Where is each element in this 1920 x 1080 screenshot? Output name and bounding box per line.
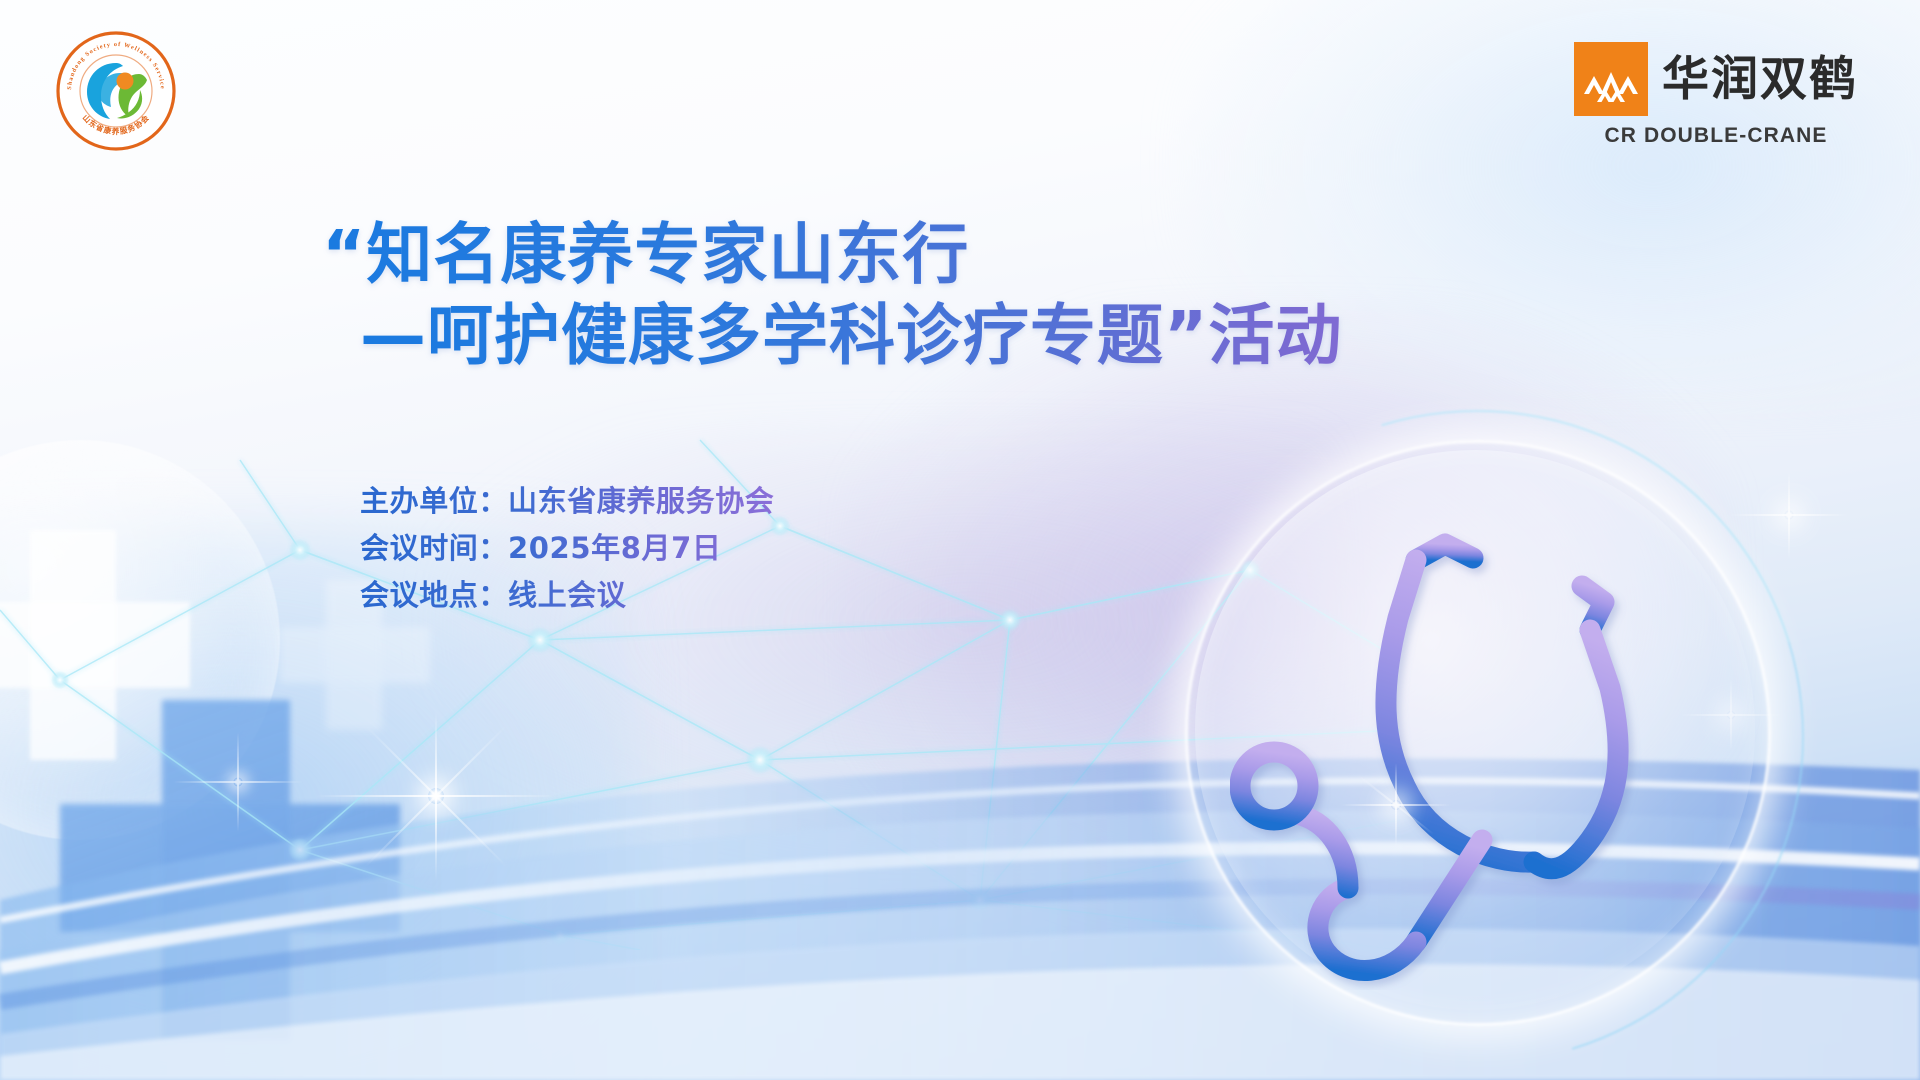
event-info-block: 主办单位：山东省康养服务协会 会议时间：2025年8月7日 会议地点：线上会议 (360, 478, 774, 619)
info-datetime: 会议时间：2025年8月7日 (360, 525, 774, 572)
cr-double-crane-logo: 华润双鹤 CR DOUBLE-CRANE (1574, 42, 1858, 148)
banner-canvas: Shandong Society of Wellness Service 山东省… (0, 0, 1920, 1080)
cr-logo-hanzi: 华润双鹤 (1662, 56, 1858, 103)
page-title: “知名康养专家山东行 —呵护健康多学科诊疗专题”活动 (322, 215, 1592, 376)
info-location: 会议地点：线上会议 (360, 572, 774, 619)
title-line-1: “知名康养专家山东行 (322, 215, 1592, 296)
cr-logo-english: CR DOUBLE-CRANE (1605, 124, 1828, 148)
title-line-2: —呵护健康多学科诊疗专题”活动 (360, 296, 1592, 377)
shandong-wellness-association-logo: Shandong Society of Wellness Service 山东省… (55, 30, 177, 152)
stethoscope-icon (1230, 490, 1730, 990)
info-organizer: 主办单位：山东省康养服务协会 (360, 478, 774, 525)
cr-mountain-mark-icon (1574, 42, 1648, 116)
